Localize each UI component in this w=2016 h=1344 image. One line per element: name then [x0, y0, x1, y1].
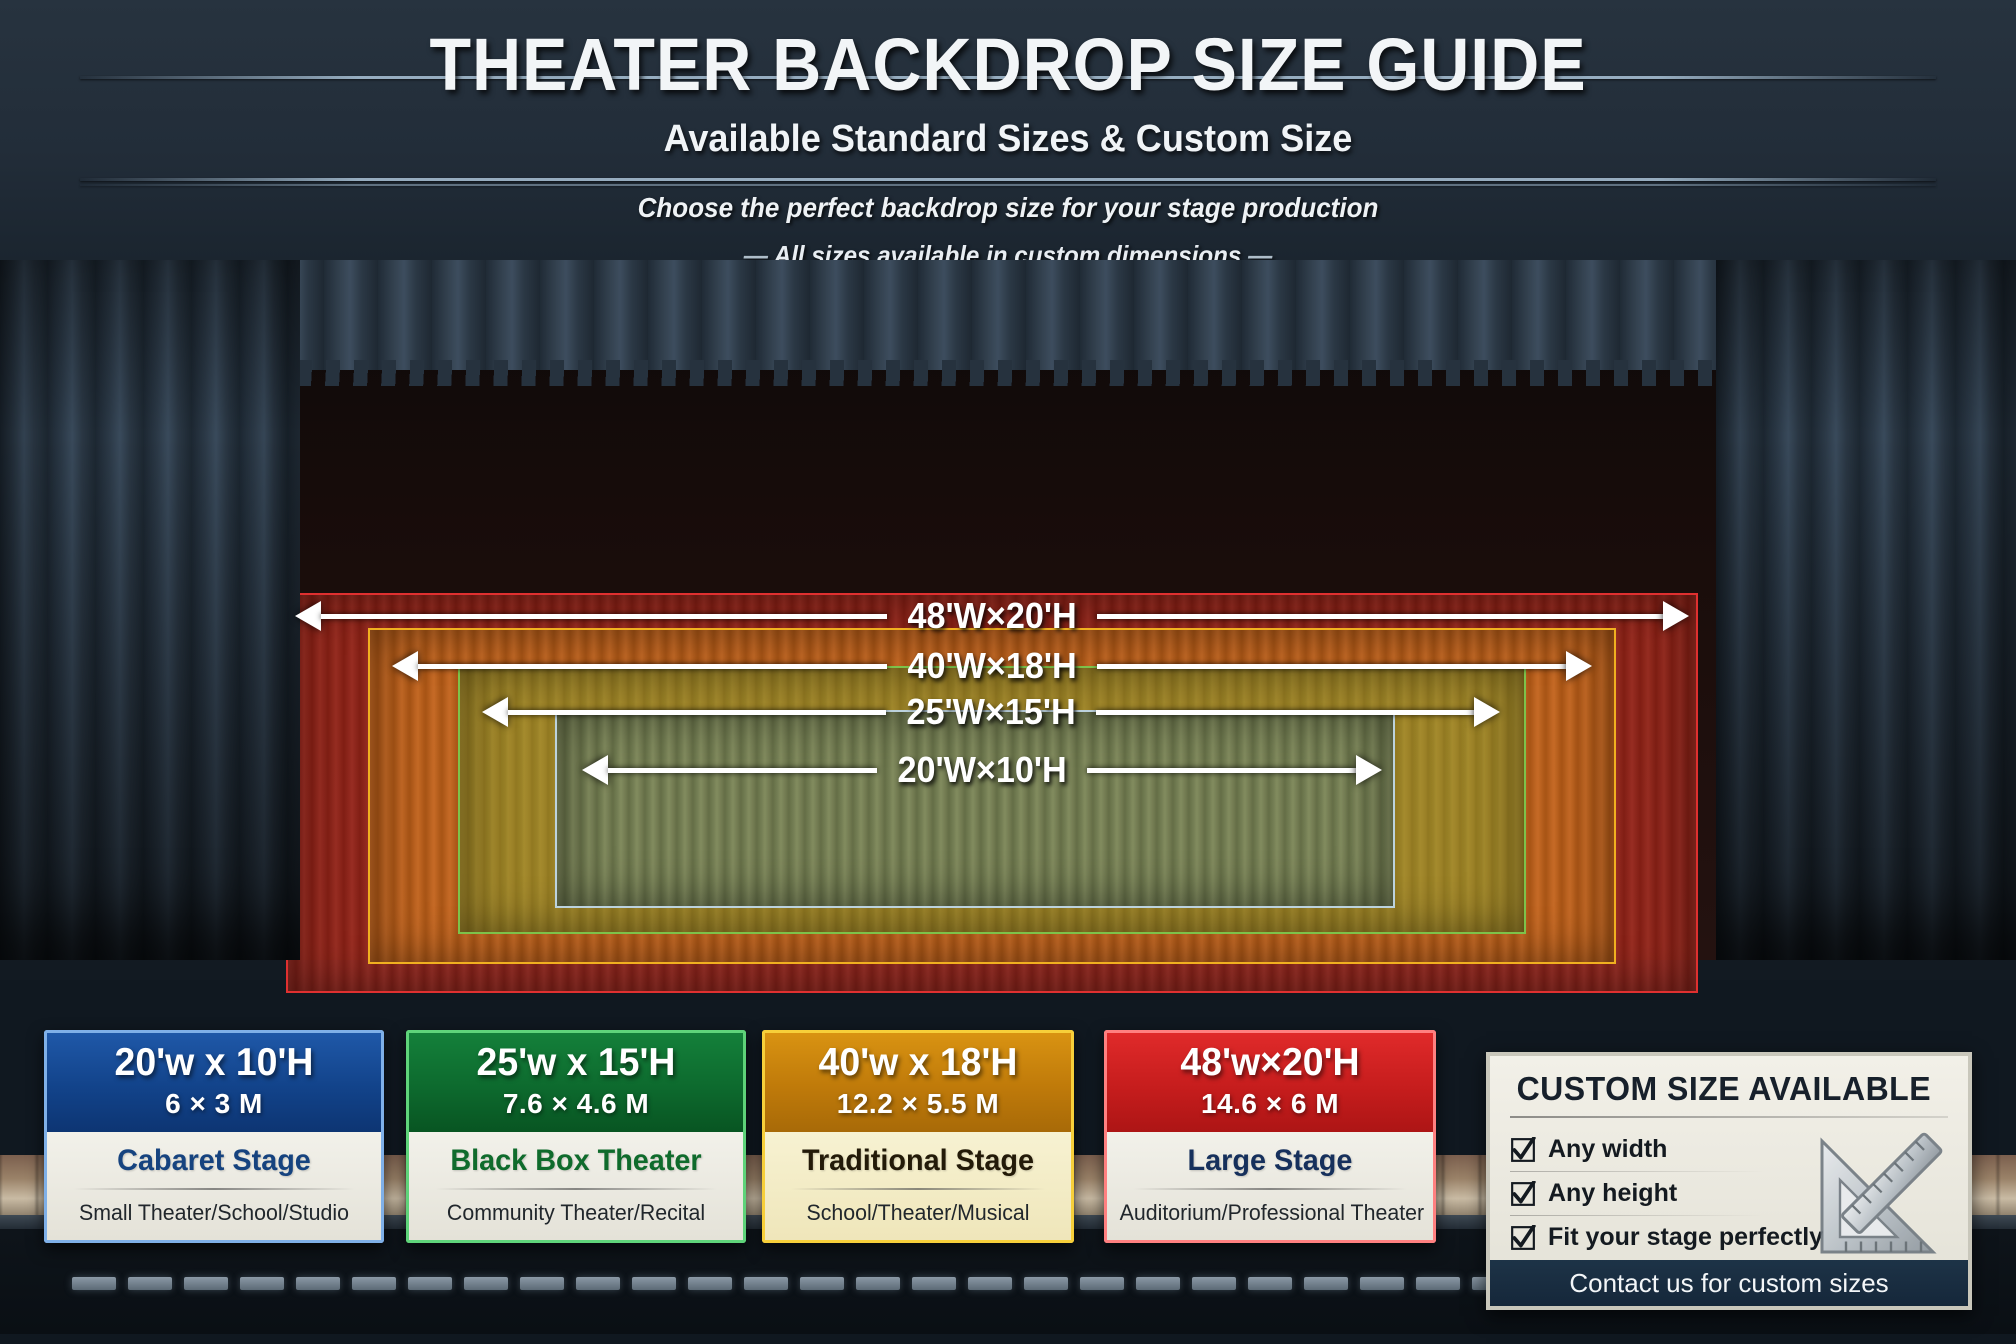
custom-size-panel-body: CUSTOM SIZE AVAILABLE Any widthAny heigh… [1490, 1056, 1968, 1268]
size-card-dimension: 20'w x 10'H [61, 1043, 366, 1084]
checkbox-checked-icon[interactable] [1510, 1137, 1536, 1163]
size-card-dimension: 48'w×20'H [1121, 1043, 1419, 1084]
header-banner: THEATER BACKDROP SIZE GUIDE Available St… [0, 0, 2016, 272]
size-card-title: Black Box Theater [423, 1144, 728, 1178]
size-card-title: Large Stage [1121, 1144, 1419, 1178]
arrow-right-icon [1566, 651, 1592, 681]
arrow-left-icon [582, 755, 608, 785]
size-card-header: 20'w x 10'H6 × 3 M [44, 1030, 384, 1132]
dimension-row-25x15: 25'W×15'H [482, 688, 1500, 736]
arrow-left-icon [482, 697, 508, 727]
size-card-body: Traditional StageSchool/Theater/Musical [762, 1132, 1074, 1243]
size-card-description: Small Theater/School/Studio [60, 1200, 368, 1226]
backdrop-rect-20x10 [555, 710, 1395, 908]
size-card-description: Community Theater/Recital [422, 1200, 730, 1226]
arrow-line-left [321, 614, 887, 619]
size-card-body: Large StageAuditorium/Professional Theat… [1104, 1132, 1436, 1243]
size-card-header: 40'w x 18'H12.2 × 5.5 M [762, 1030, 1074, 1132]
size-card-body: Black Box TheaterCommunity Theater/Recit… [406, 1132, 746, 1243]
stage-illustration: 48'W×20'H 40'W×18'H 25'W×15'H 20'W×10'H … [0, 260, 2016, 980]
header-divider-middle [80, 178, 1936, 181]
size-card[interactable]: 25'w x 15'H7.6 × 4.6 MBlack Box TheaterC… [406, 1030, 746, 1243]
size-card-divider [1133, 1188, 1407, 1190]
stage-curtain-right [1716, 260, 2016, 960]
size-card-description: School/Theater/Musical [777, 1200, 1058, 1226]
size-card-divider [73, 1188, 355, 1190]
page-title: THEATER BACKDROP SIZE GUIDE [81, 22, 1936, 107]
stage-curtain-left [0, 260, 300, 960]
size-card-metric: 12.2 × 5.5 M [773, 1088, 1063, 1120]
theater-backdrop-size-guide-infographic: THEATER BACKDROP SIZE GUIDE Available St… [0, 0, 2016, 1344]
size-card[interactable]: 48'w×20'H14.6 × 6 MLarge StageAuditorium… [1104, 1030, 1436, 1243]
size-card-body: Cabaret StageSmall Theater/School/Studio [44, 1132, 384, 1243]
size-card[interactable]: 20'w x 10'H6 × 3 MCabaret StageSmall The… [44, 1030, 384, 1243]
custom-size-panel[interactable]: CUSTOM SIZE AVAILABLE Any widthAny heigh… [1486, 1052, 1972, 1310]
arrow-right-icon [1663, 601, 1689, 631]
dimension-row-40x18: 40'W×18'H [392, 642, 1592, 690]
arrow-line-right [1097, 664, 1566, 669]
dimension-label-48x20: 48'W×20'H [892, 595, 1092, 637]
checkbox-checked-icon[interactable] [1510, 1181, 1536, 1207]
size-card[interactable]: 40'w x 18'H12.2 × 5.5 MTraditional Stage… [762, 1030, 1074, 1243]
size-card-title: Traditional Stage [779, 1144, 1057, 1178]
dimension-label-40x18: 40'W×18'H [892, 645, 1092, 687]
arrow-left-icon [295, 601, 321, 631]
dimension-label-20x10: 20'W×10'H [882, 749, 1082, 791]
size-card-dimension: 25'w x 15'H [423, 1043, 728, 1084]
arrow-line-left [418, 664, 887, 669]
size-card-dimension: 40'w x 18'H [779, 1043, 1057, 1084]
arrow-line-right [1096, 710, 1474, 715]
checkbox-checked-icon[interactable] [1510, 1225, 1536, 1251]
arrow-right-icon [1474, 697, 1500, 727]
size-card-description: Auditorium/Professional Theater [1120, 1200, 1421, 1226]
size-card-metric: 7.6 × 4.6 M [417, 1088, 735, 1120]
arrow-line-left [508, 710, 886, 715]
arrow-left-icon [392, 651, 418, 681]
arrow-right-icon [1356, 755, 1382, 785]
ruler-triangle-icon [1810, 1114, 1960, 1264]
custom-size-feature-label: Fit your stage perfectly [1548, 1223, 1823, 1252]
arrow-line-right [1097, 614, 1663, 619]
size-card-header: 25'w x 15'H7.6 × 4.6 M [406, 1030, 746, 1132]
arrow-line-left [608, 768, 877, 773]
size-card-title: Cabaret Stage [61, 1144, 366, 1178]
dimension-row-20x10: 20'W×10'H [582, 746, 1382, 794]
page-tagline: Choose the perfect backdrop size for you… [71, 192, 1946, 224]
size-card-divider [791, 1188, 1045, 1190]
custom-size-contact-button[interactable]: Contact us for custom sizes [1490, 1260, 1968, 1306]
custom-size-panel-title: CUSTOM SIZE AVAILABLE [1517, 1070, 1942, 1108]
size-card-metric: 6 × 3 M [55, 1088, 373, 1120]
stage-valance [0, 260, 2016, 370]
size-card-header: 48'w×20'H14.6 × 6 M [1104, 1030, 1436, 1132]
page-subtitle: Available Standard Sizes & Custom Size [50, 118, 1965, 161]
dimension-label-25x15: 25'W×15'H [891, 691, 1091, 733]
custom-size-feature-label: Any width [1548, 1135, 1667, 1164]
custom-size-feature-label: Any height [1548, 1179, 1677, 1208]
header-divider-middle-shadow [80, 184, 1936, 186]
size-card-metric: 14.6 × 6 M [1115, 1088, 1425, 1120]
dimension-row-48x20: 48'W×20'H [295, 592, 1689, 640]
size-card-divider [435, 1188, 717, 1190]
arrow-line-right [1087, 768, 1356, 773]
